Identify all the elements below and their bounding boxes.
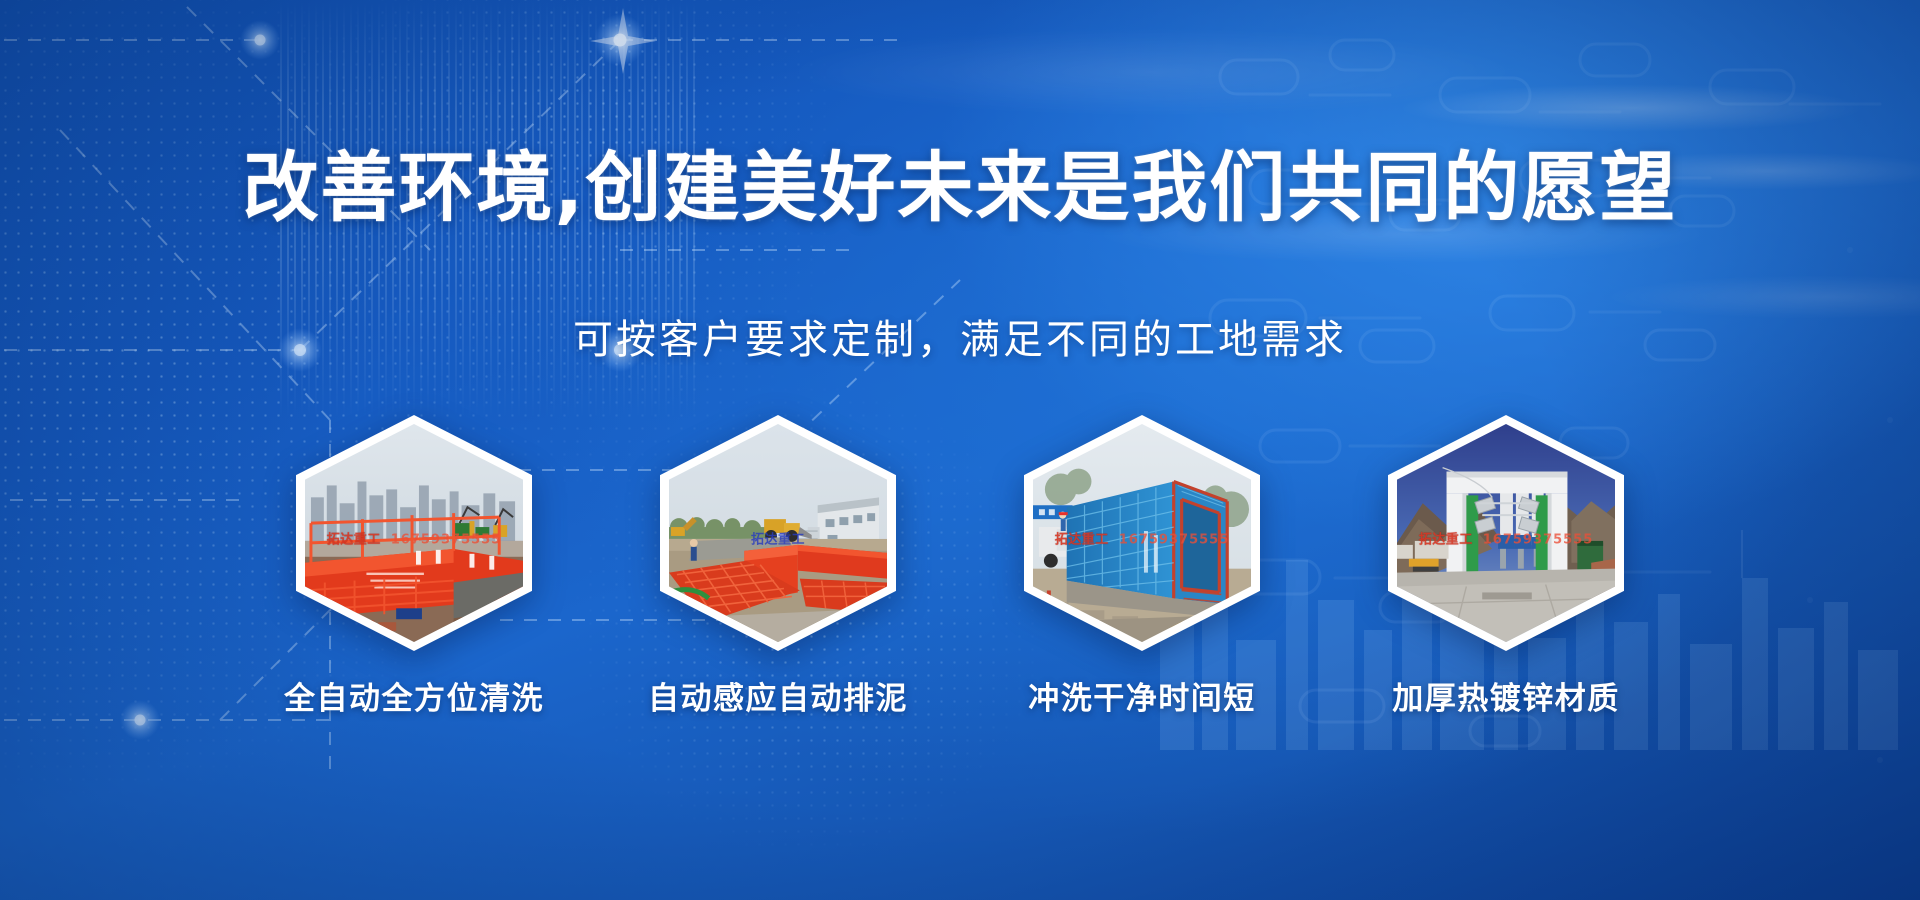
feature-caption-4: 加厚热镀锌材质 <box>1392 673 1620 718</box>
hex-photo-1[interactable]: 拓达重工16759375555 <box>296 415 532 651</box>
page-title: 改善环境,创建美好未来是我们共同的愿望 <box>0 150 1920 226</box>
feature-caption-3: 冲洗干净时间短 <box>1028 673 1256 718</box>
hex-photo-3[interactable]: 拓达重工16759375555 <box>1024 415 1260 651</box>
banner-stage: 改善环境,创建美好未来是我们共同的愿望 可按客户要求定制，满足不同的工地需求 <box>0 0 1920 900</box>
page-subtitle: 可按客户要求定制，满足不同的工地需求 <box>0 320 1920 360</box>
hex-photo-4[interactable]: 拓达重工16759375555 <box>1388 415 1624 651</box>
feature-item-4[interactable]: 拓达重工16759375555 加厚热镀锌材质 <box>1376 415 1636 718</box>
feature-caption-1: 全自动全方位清洗 <box>284 673 544 718</box>
feature-caption-2: 自动感应自动排泥 <box>648 673 908 718</box>
feature-item-1[interactable]: 拓达重工16759375555 全自动全方位清洗 <box>284 415 544 718</box>
hex-photo-2[interactable]: 拓达重工 <box>660 415 896 651</box>
feature-list: 拓达重工16759375555 全自动全方位清洗 <box>0 415 1920 695</box>
feature-item-3[interactable]: 拓达重工16759375555 冲洗干净时间短 <box>1012 415 1272 718</box>
feature-item-2[interactable]: 拓达重工 自动感应自动排泥 <box>648 415 908 718</box>
